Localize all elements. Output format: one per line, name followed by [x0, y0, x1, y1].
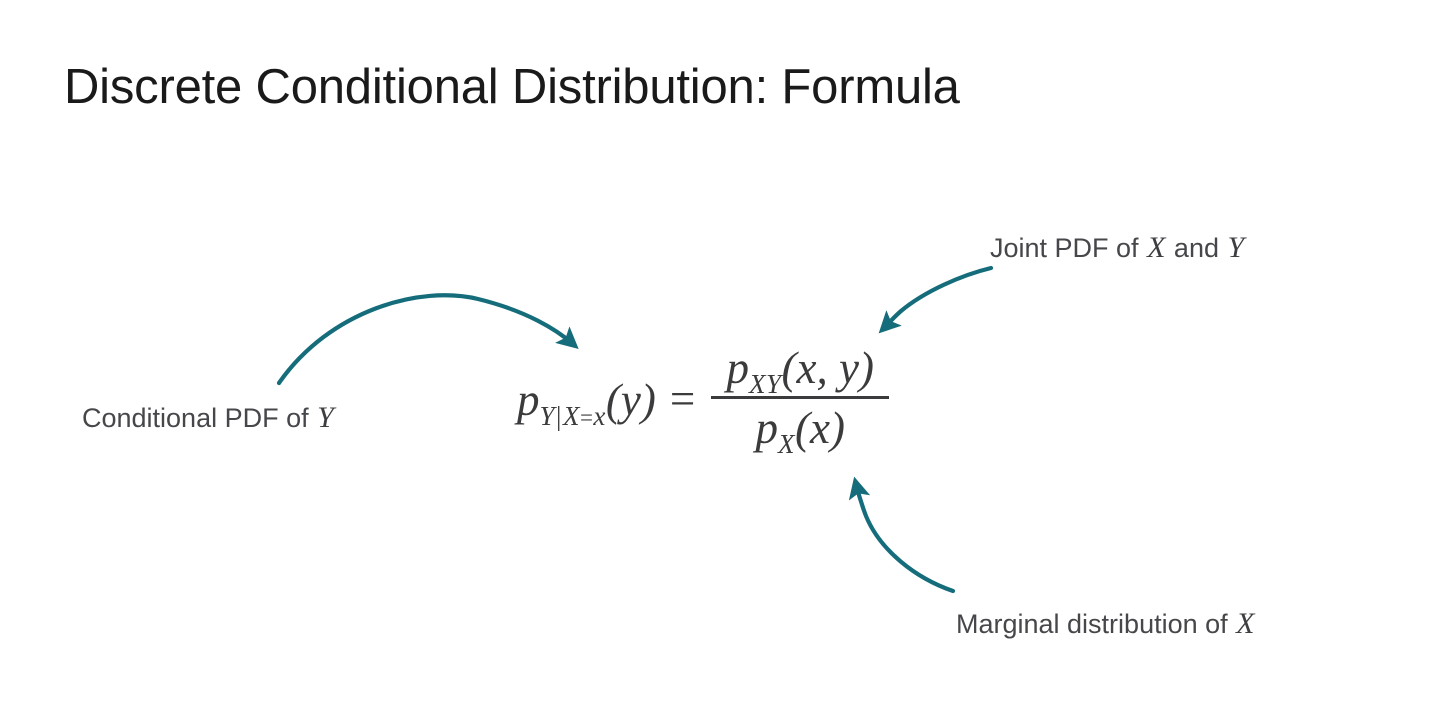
formula-lhs-base: p	[517, 374, 540, 426]
callout-conditional-text: Conditional PDF of	[82, 403, 309, 433]
callout-marginal-distribution: Marginal distribution of X	[956, 606, 1255, 642]
callout-joint-variable-x: X	[1146, 231, 1166, 264]
callout-conditional-pdf: Conditional PDF of Y	[82, 400, 335, 436]
formula-lhs-subscript: Y|X=x	[540, 401, 606, 432]
formula-lhs-sub-lowerx: x	[593, 401, 605, 431]
formula-lhs-sub-bar: |	[555, 401, 563, 431]
page-title: Discrete Conditional Distribution: Formu…	[64, 60, 960, 115]
slide-canvas: Discrete Conditional Distribution: Formu…	[0, 0, 1440, 710]
formula-lhs-sub-equals: =	[580, 405, 593, 430]
callout-joint-text: Joint PDF of	[990, 233, 1139, 263]
formula-denominator-base: p	[756, 402, 779, 454]
formula-numerator-args: (x, y)	[782, 342, 874, 394]
arrow-joint-pdf	[884, 268, 991, 328]
formula-denominator-subscript: X	[778, 429, 795, 460]
callout-conditional-variable: Y	[316, 401, 335, 434]
formula-fraction: pXY(x, y) pX(x)	[711, 342, 889, 454]
callout-marginal-text: Marginal distribution of	[956, 609, 1228, 639]
formula-equals-sign: =	[656, 373, 711, 425]
formula-lhs-sub-y: Y	[540, 401, 556, 431]
callout-marginal-variable: X	[1235, 607, 1255, 640]
formula-numerator: pXY(x, y)	[719, 342, 882, 396]
formula-denominator-args: (x)	[795, 402, 845, 454]
formula-denominator: pX(x)	[748, 399, 853, 454]
formula-lhs-args: (y)	[606, 374, 656, 426]
formula-lhs-sub-x: X	[563, 401, 580, 431]
callout-joint-variable-y: Y	[1227, 231, 1246, 264]
formula-numerator-base: p	[727, 342, 750, 394]
arrow-marginal	[856, 484, 953, 591]
callout-joint-pdf: Joint PDF of X and Y	[990, 230, 1245, 266]
callout-joint-text-middle: and	[1174, 233, 1219, 263]
formula-lhs: pY|X=x(y)	[517, 374, 656, 426]
formula-numerator-subscript: XY	[749, 369, 782, 400]
formula-equation: pY|X=x(y) = pXY(x, y) pX(x)	[517, 330, 889, 470]
